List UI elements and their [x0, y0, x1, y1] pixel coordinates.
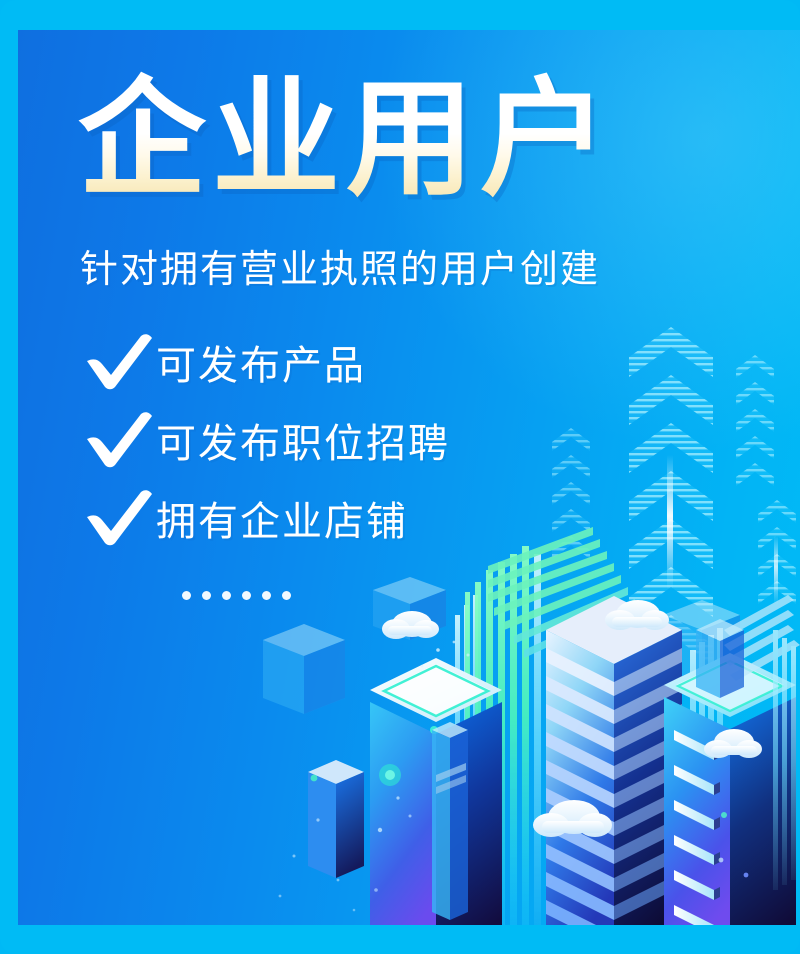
checkmark-icon — [84, 490, 156, 546]
page-title: 企业用户 — [78, 62, 614, 218]
dot — [222, 591, 231, 600]
page-subtitle: 针对拥有营业执照的用户创建 — [80, 238, 600, 293]
promo-card: 企业用户 针对拥有营业执照的用户创建 可发布产品 — [0, 0, 800, 954]
list-item: 可发布职位招聘 — [84, 406, 450, 474]
card-content: 企业用户 针对拥有营业执照的用户创建 可发布产品 — [18, 30, 800, 925]
dot — [242, 591, 251, 600]
ellipsis-dots — [182, 591, 291, 600]
list-item: 可发布产品 — [84, 328, 450, 396]
feature-label: 可发布产品 — [156, 333, 366, 391]
dot — [202, 591, 211, 600]
checkmark-icon — [84, 334, 156, 390]
feature-label: 拥有企业店铺 — [156, 489, 408, 547]
list-item: 拥有企业店铺 — [84, 484, 450, 552]
card-panel: 企业用户 针对拥有营业执照的用户创建 可发布产品 — [18, 30, 800, 925]
feature-label: 可发布职位招聘 — [156, 411, 450, 469]
dot — [262, 591, 271, 600]
checkmark-icon — [84, 412, 156, 468]
feature-list: 可发布产品 可发布职位招聘 拥有 — [84, 328, 450, 562]
dot — [282, 591, 291, 600]
dot — [182, 591, 191, 600]
